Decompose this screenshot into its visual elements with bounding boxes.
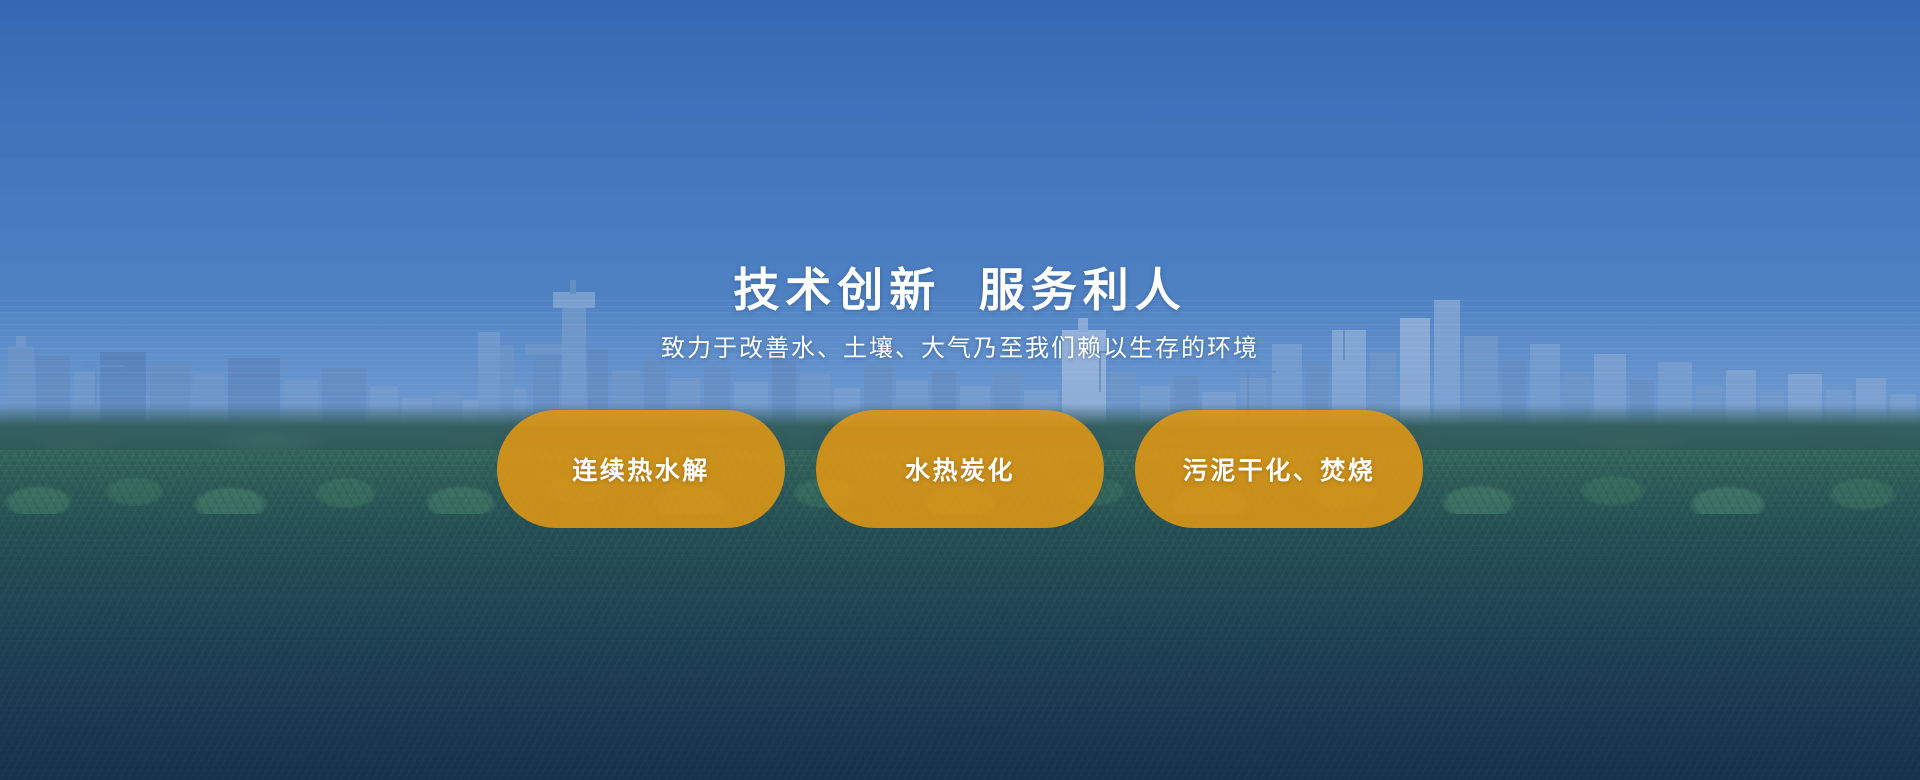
category-button-row: 连续热水解 水热炭化 污泥干化、焚烧 [497,410,1423,528]
hero-banner: 技术创新 服务利人 致力于改善水、土壤、大气乃至我们赖以生存的环境 连续热水解 … [0,0,1920,780]
category-button-sludge-drying-incineration[interactable]: 污泥干化、焚烧 [1135,410,1423,528]
page-subtitle: 致力于改善水、土壤、大气乃至我们赖以生存的环境 [661,332,1259,366]
category-button-label: 水热炭化 [905,451,1015,487]
hero-content: 技术创新 服务利人 致力于改善水、土壤、大气乃至我们赖以生存的环境 连续热水解 … [0,0,1920,780]
page-title: 技术创新 服务利人 [733,262,1187,318]
category-button-thermal-hydrolysis[interactable]: 连续热水解 [497,410,785,528]
category-button-label: 污泥干化、焚烧 [1183,451,1376,487]
category-button-hydrothermal-carbonization[interactable]: 水热炭化 [816,410,1104,528]
category-button-label: 连续热水解 [572,451,710,487]
